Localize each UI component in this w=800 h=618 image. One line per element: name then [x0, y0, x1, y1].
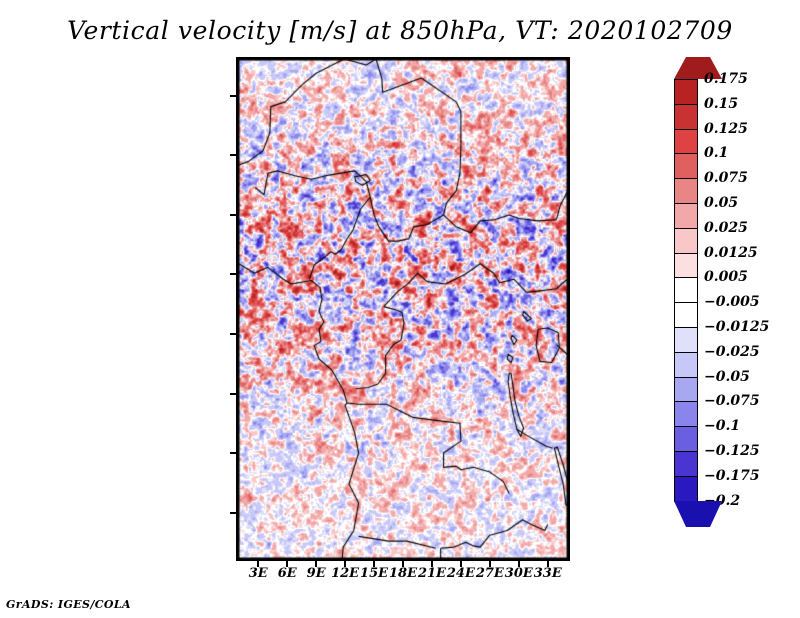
x-axis-tick-mark [257, 561, 259, 567]
colorbar-tick-label: −0.0125 [704, 319, 769, 335]
colorbar-tick-label: 0.075 [704, 170, 748, 186]
colorbar-swatch [674, 253, 698, 279]
colorbar-tick-label: 0.1 [704, 145, 728, 161]
footer-attribution: GrADS: IGES/COLA [6, 598, 131, 611]
y-axis-tick-mark [230, 452, 236, 454]
colorbar-swatch [674, 178, 698, 204]
colorbar-swatch [674, 79, 698, 105]
y-axis-tick-mark [230, 512, 236, 514]
x-axis-tick-mark [518, 561, 520, 567]
x-axis-tick-mark [489, 561, 491, 567]
y-axis-tick-mark [230, 95, 236, 97]
x-axis-tick-mark [402, 561, 404, 567]
colorbar-swatch [674, 302, 698, 328]
colorbar-tick-label: −0.05 [704, 369, 750, 385]
colorbar-tick-label: 0.025 [704, 220, 748, 236]
colorbar-swatch [674, 327, 698, 353]
y-axis-tick-mark [230, 273, 236, 275]
x-axis-tick-label: 33E [528, 566, 568, 581]
y-axis-tick-mark [230, 333, 236, 335]
colorbar-swatch [674, 377, 698, 403]
colorbar-swatch [674, 203, 698, 229]
colorbar-tick-label: −0.175 [704, 468, 760, 484]
x-axis-tick-mark [431, 561, 433, 567]
colorbar-tick-label: −0.1 [704, 418, 740, 434]
map-plot-area [236, 57, 570, 561]
colorbar-swatch [674, 228, 698, 254]
x-axis-tick-mark [315, 561, 317, 567]
colorbar-tick-label: −0.075 [704, 393, 760, 409]
colorbar-tick-label: 0.0125 [704, 245, 758, 261]
x-axis-tick-mark [286, 561, 288, 567]
x-axis-tick-mark [344, 561, 346, 567]
colorbar-swatch [674, 352, 698, 378]
page-title: Vertical velocity [m/s] at 850hPa, VT: 2… [0, 16, 800, 45]
colorbar-legend: 0.1750.150.1250.10.0750.050.0250.01250.0… [674, 57, 698, 562]
colorbar-tick-label: 0.05 [704, 195, 738, 211]
colorbar-tick-label: 0.005 [704, 269, 748, 285]
colorbar-swatch [674, 401, 698, 427]
x-axis-tick-mark [460, 561, 462, 567]
colorbar-swatch [674, 129, 698, 155]
colorbar-min-arrow [674, 501, 722, 527]
colorbar-tick-label: −0.025 [704, 344, 760, 360]
colorbar-tick-label: −0.125 [704, 443, 760, 459]
colorbar-swatch [674, 426, 698, 452]
colorbar-tick-label: 0.125 [704, 121, 748, 137]
colorbar-tick-label: −0.005 [704, 294, 760, 310]
x-axis-tick-mark [547, 561, 549, 567]
colorbar-tick-label: 0.15 [704, 96, 738, 112]
colorbar-swatch [674, 153, 698, 179]
y-axis-tick-mark [230, 214, 236, 216]
colorbar-swatch [674, 476, 698, 502]
y-axis-tick-mark [230, 393, 236, 395]
colorbar-swatch [674, 451, 698, 477]
y-axis-tick-mark [230, 154, 236, 156]
colorbar-swatch [674, 277, 698, 303]
colorbar-tick-label: 0.175 [704, 71, 748, 87]
vertical-velocity-field [238, 59, 568, 559]
x-axis-tick-mark [373, 561, 375, 567]
colorbar-swatch [674, 104, 698, 130]
